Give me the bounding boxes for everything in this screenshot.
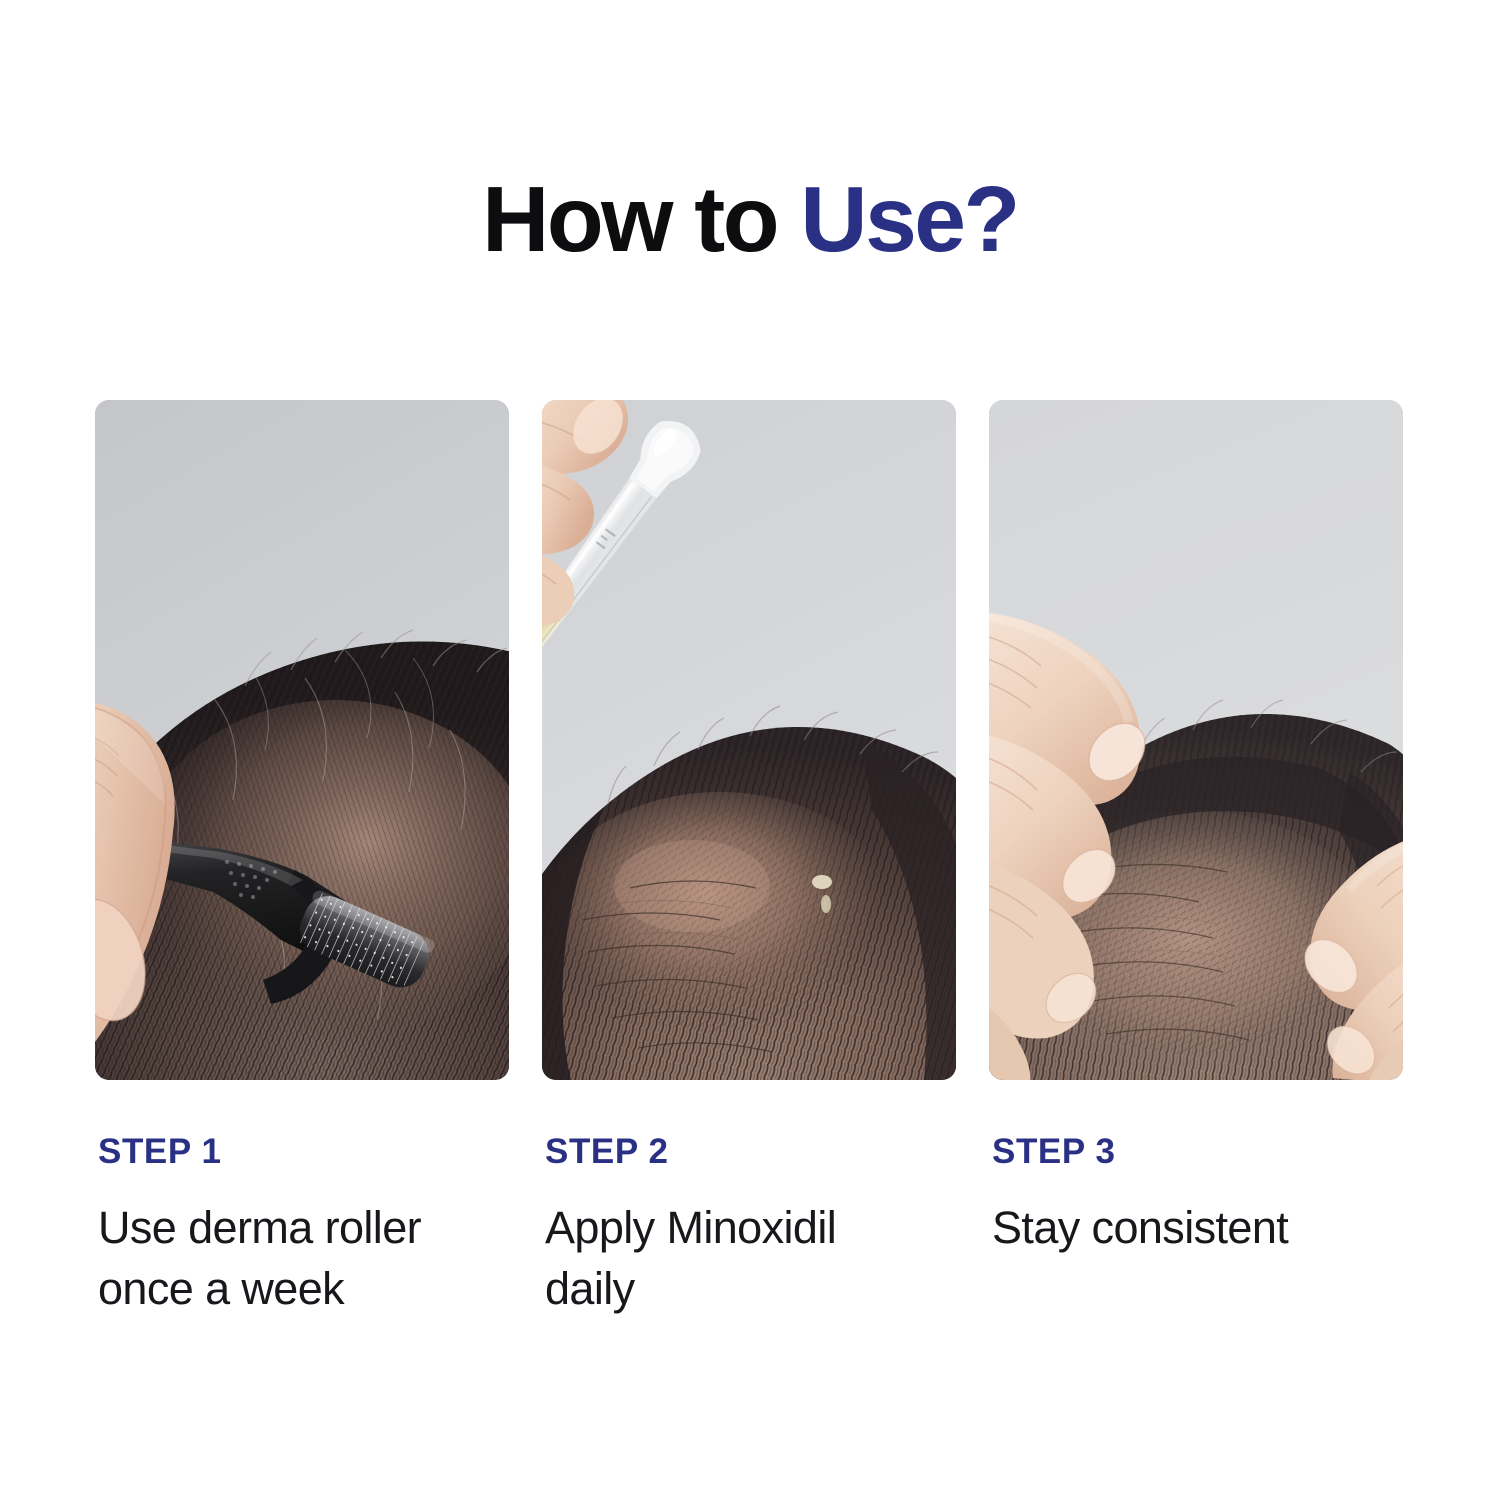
- page-title: How to Use?: [0, 168, 1500, 270]
- page-title-black-part: How to: [482, 167, 800, 271]
- steps-row: STEP 1 Use derma roller once a week: [95, 400, 1405, 1319]
- step-caption-3: STEP 3 Stay consistent: [989, 1080, 1403, 1258]
- step-text-1: Use derma roller once a week: [98, 1197, 498, 1319]
- step-label-2: STEP 2: [545, 1134, 956, 1169]
- derma-roller-on-scalp-photo: [95, 400, 509, 1080]
- step-label-1: STEP 1: [98, 1134, 509, 1169]
- step-text-3: Stay consistent: [992, 1197, 1392, 1258]
- hands-massaging-scalp-photo: [989, 400, 1403, 1080]
- step-label-3: STEP 3: [992, 1134, 1403, 1169]
- step-card-1: STEP 1 Use derma roller once a week: [95, 400, 509, 1319]
- step-caption-1: STEP 1 Use derma roller once a week: [95, 1080, 509, 1319]
- step-card-3: STEP 3 Stay consistent: [989, 400, 1403, 1319]
- dropper-applying-minoxidil-photo: [542, 400, 956, 1080]
- step-text-2: Apply Minoxidil daily: [545, 1197, 945, 1319]
- step-caption-2: STEP 2 Apply Minoxidil daily: [542, 1080, 956, 1319]
- page-title-blue-part: Use?: [800, 167, 1017, 271]
- step-card-2: STEP 2 Apply Minoxidil daily: [542, 400, 956, 1319]
